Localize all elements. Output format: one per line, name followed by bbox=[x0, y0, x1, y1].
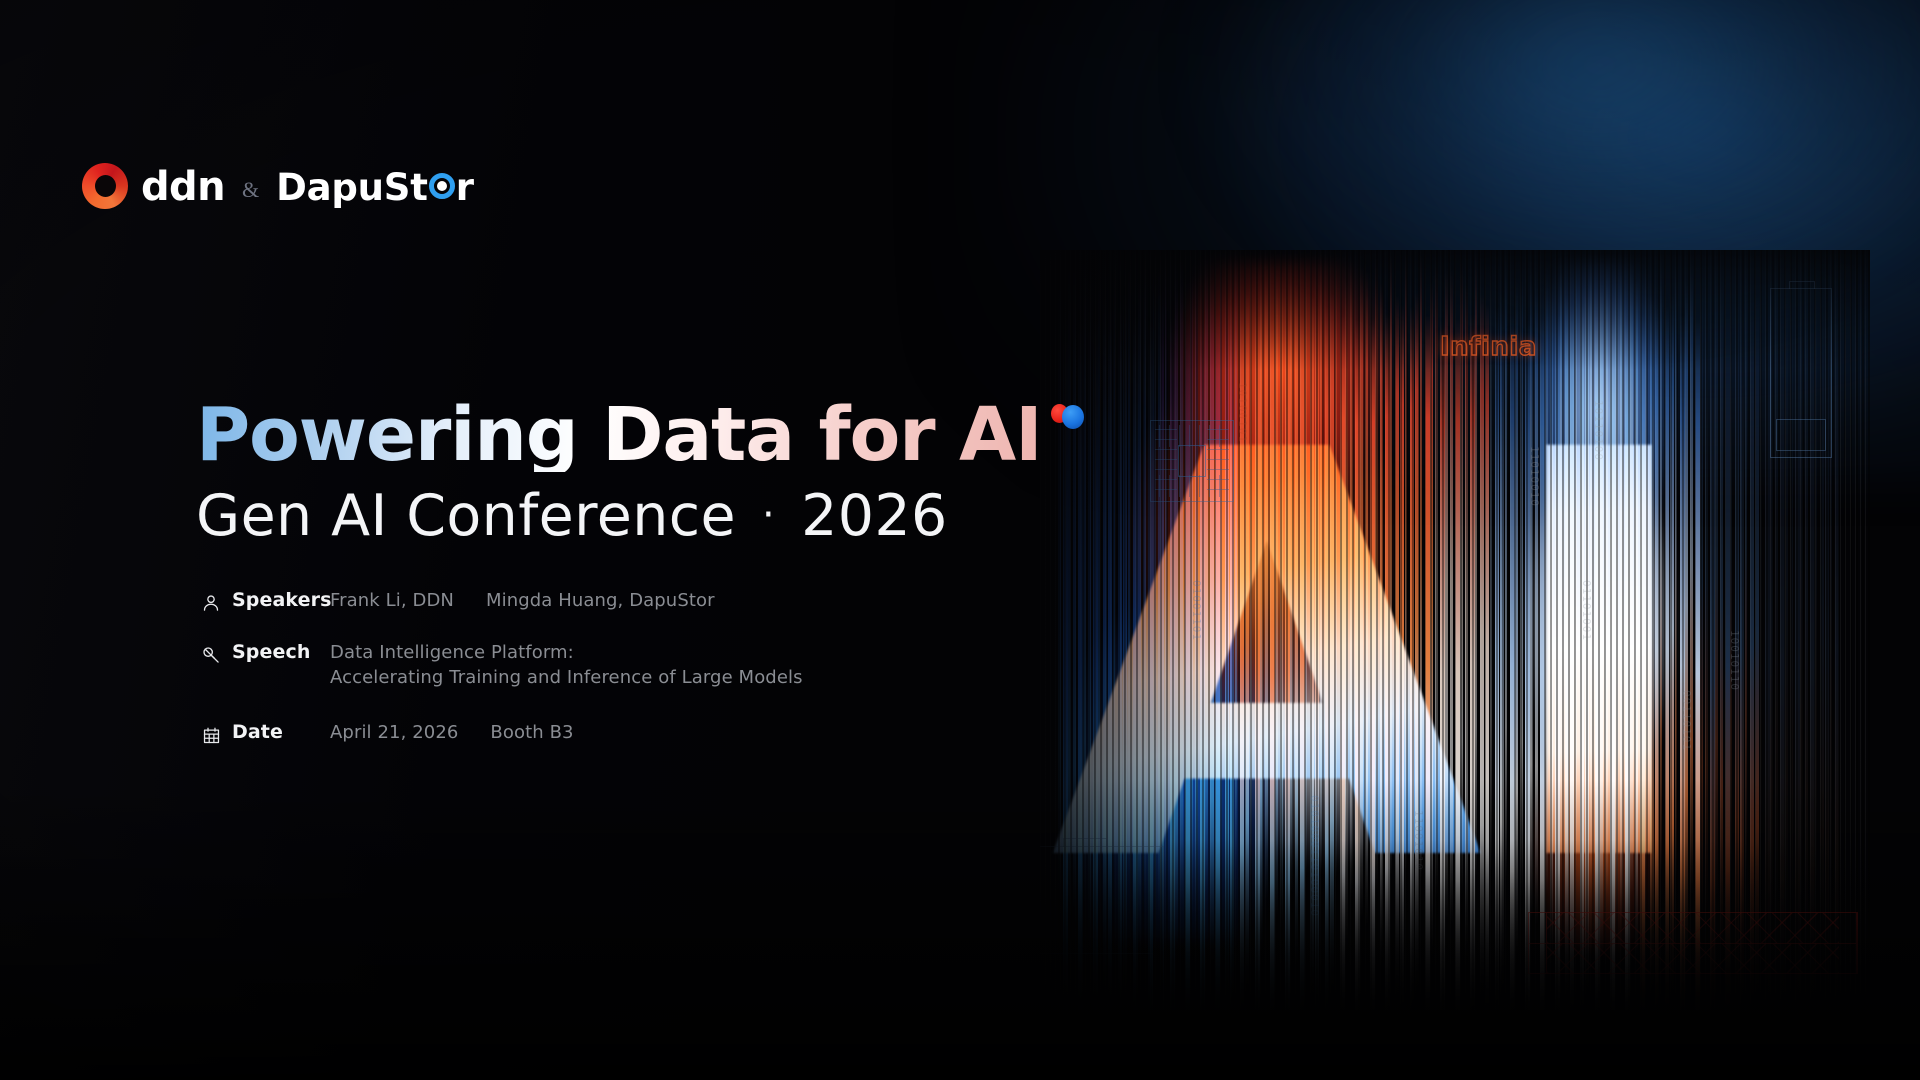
speech-title-line-2: Accelerating Training and Inference of L… bbox=[330, 665, 803, 690]
server-rack-bay bbox=[1529, 944, 1547, 974]
calendar-icon bbox=[198, 722, 224, 748]
detail-label-speech: Speech bbox=[232, 640, 330, 664]
server-rack-bay bbox=[1529, 913, 1547, 943]
dapustor-o-inner bbox=[437, 181, 447, 191]
memory-module-wireframe-icon bbox=[1770, 288, 1832, 458]
subheadline-block: Gen AI Conference · 2026 bbox=[196, 488, 948, 545]
server-rack-wireframe-icon bbox=[1528, 912, 1858, 974]
ai-artwork: A I bbox=[1040, 250, 1870, 1010]
detail-label-speakers: Speakers bbox=[232, 588, 330, 612]
server-rack-pattern bbox=[1547, 913, 1839, 943]
subheadline-year: 2026 bbox=[801, 488, 948, 545]
speaker-name-2: Mingda Huang, DapuStor bbox=[486, 588, 715, 613]
speaker-name-1: Frank Li, DDN bbox=[330, 588, 454, 613]
artwork-fade-left bbox=[1040, 250, 1220, 1010]
server-rack-bay bbox=[1839, 944, 1857, 974]
detail-row-date: Date April 21, 2026 Booth B3 bbox=[198, 720, 958, 748]
microphone-icon bbox=[198, 642, 224, 668]
binary-string: 11010010 bbox=[1528, 446, 1541, 507]
event-details: Speakers Frank Li, DDN Mingda Huang, Dap… bbox=[198, 588, 958, 772]
binary-string: 00110101 bbox=[1680, 690, 1693, 751]
brand-logo-bar: ddn & DapuSt r bbox=[82, 158, 474, 214]
accent-dot-blue-icon bbox=[1062, 405, 1084, 429]
headline-block: Powering Data for AI bbox=[196, 398, 1091, 472]
scanline-highlight-overlay bbox=[1040, 250, 1870, 1010]
storage-drive-panel bbox=[1040, 953, 1153, 1010]
artwork-letter-i: I bbox=[1495, 380, 1703, 940]
scanline-overlay bbox=[1040, 250, 1870, 1010]
binary-string: 10110100 bbox=[1592, 400, 1605, 461]
ai-artwork-canvas: A I bbox=[1040, 250, 1870, 1010]
server-rack-row bbox=[1529, 944, 1857, 974]
ddn-logo-icon bbox=[82, 163, 128, 209]
dapustor-wordmark-suffix: r bbox=[456, 169, 474, 206]
background-bottom-shade bbox=[0, 780, 1920, 1080]
cpu-chip-wireframe-icon bbox=[1150, 420, 1234, 502]
storage-drive-handle bbox=[1063, 838, 1107, 847]
server-rack-pattern bbox=[1547, 944, 1839, 974]
dapustor-wordmark-prefix: DapuSt bbox=[276, 169, 428, 206]
infinia-product-wordmark: Infinia bbox=[1440, 332, 1537, 362]
detail-values-speakers: Frank Li, DDN Mingda Huang, DapuStor bbox=[330, 588, 715, 613]
person-icon bbox=[198, 590, 224, 616]
memory-module-panel bbox=[1776, 419, 1826, 451]
detail-row-speech: Speech Data Intelligence Platform: Accel… bbox=[198, 640, 958, 690]
memory-module-cap bbox=[1789, 281, 1815, 289]
letter-a-glow bbox=[1070, 260, 1490, 940]
background-glow-top-right-inner bbox=[1220, 0, 1920, 300]
brand-ampersand: & bbox=[238, 177, 263, 203]
binary-string: 11001010 bbox=[1412, 810, 1425, 871]
detail-values-date: April 21, 2026 Booth B3 bbox=[330, 720, 574, 745]
headline-text: Powering Data for AI bbox=[196, 398, 1041, 472]
dapustor-o-ring-icon bbox=[429, 173, 455, 199]
binary-string: 10100101 bbox=[1236, 382, 1249, 443]
binary-string: 0101000110100010 bbox=[1308, 795, 1321, 917]
artwork-fade-top bbox=[1040, 250, 1870, 370]
artwork-fade-bottom bbox=[1040, 840, 1870, 1010]
subheadline-event: Gen AI Conference bbox=[196, 488, 736, 545]
booth-number: Booth B3 bbox=[490, 720, 573, 745]
detail-values-speech: Data Intelligence Platform: Accelerating… bbox=[330, 640, 803, 690]
binary-string: 10010110 bbox=[1728, 630, 1741, 691]
letter-i-glow bbox=[1470, 260, 1720, 950]
binary-string: 01101001 bbox=[1580, 580, 1593, 641]
event-date: April 21, 2026 bbox=[330, 720, 458, 745]
headline-accent-dots bbox=[1051, 404, 1091, 434]
presentation-slide: A I bbox=[0, 0, 1920, 1080]
ddn-wordmark: ddn bbox=[141, 167, 225, 207]
dapustor-wordmark: DapuSt r bbox=[276, 169, 474, 206]
cpu-chip-core bbox=[1178, 445, 1206, 477]
detail-row-speakers: Speakers Frank Li, DDN Mingda Huang, Dap… bbox=[198, 588, 958, 616]
server-rack-bay bbox=[1839, 913, 1857, 943]
light-streaks bbox=[1040, 250, 1870, 1010]
speech-title-line-1: Data Intelligence Platform: bbox=[330, 640, 803, 665]
binary-string: 01001101 bbox=[1190, 580, 1203, 641]
artwork-letter-a: A bbox=[1050, 380, 1483, 940]
storage-drive-wireframe-icon bbox=[1040, 846, 1164, 1010]
ddn-logo-hole bbox=[95, 175, 116, 197]
subheadline-separator: · bbox=[762, 495, 775, 535]
server-rack-row bbox=[1529, 913, 1857, 944]
detail-label-date: Date bbox=[232, 720, 330, 744]
